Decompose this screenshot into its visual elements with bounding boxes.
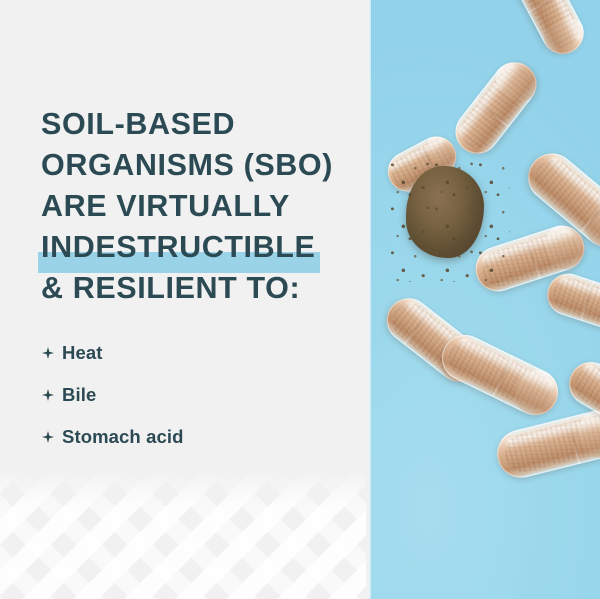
list-item-label: Heat [62, 342, 103, 364]
headline-line-4: INDESTRUCTIBLE [41, 227, 366, 268]
capsules-photograph [370, 0, 600, 599]
headline-line-3: ARE VIRTUALLY [41, 186, 366, 227]
powder-crumbs [388, 156, 510, 282]
headline-line-5: & RESILIENT TO: [41, 268, 366, 309]
panel-divider [366, 0, 371, 599]
page-title: SOIL-BASED ORGANISMS (SBO) ARE VIRTUALLY… [41, 104, 366, 309]
four-point-star-bullet-icon [41, 346, 55, 360]
resilience-list: Heat Bile Stomach acid [41, 332, 341, 458]
headline-line-2: ORGANISMS (SBO) [41, 145, 366, 186]
photo-content [370, 0, 600, 599]
four-point-star-bullet-icon [41, 430, 55, 444]
headline-highlight: INDESTRUCTIBLE [41, 227, 315, 268]
chevron-pattern-decoration [0, 468, 370, 599]
list-item-label: Bile [62, 384, 96, 406]
headline-line-1: SOIL-BASED [41, 104, 366, 145]
left-content-panel: SOIL-BASED ORGANISMS (SBO) ARE VIRTUALLY… [0, 0, 370, 599]
list-item: Stomach acid [41, 416, 341, 458]
poster-canvas: SOIL-BASED ORGANISMS (SBO) ARE VIRTUALLY… [0, 0, 600, 599]
list-item: Bile [41, 374, 341, 416]
list-item-label: Stomach acid [62, 426, 184, 448]
list-item: Heat [41, 332, 341, 374]
four-point-star-bullet-icon [41, 388, 55, 402]
